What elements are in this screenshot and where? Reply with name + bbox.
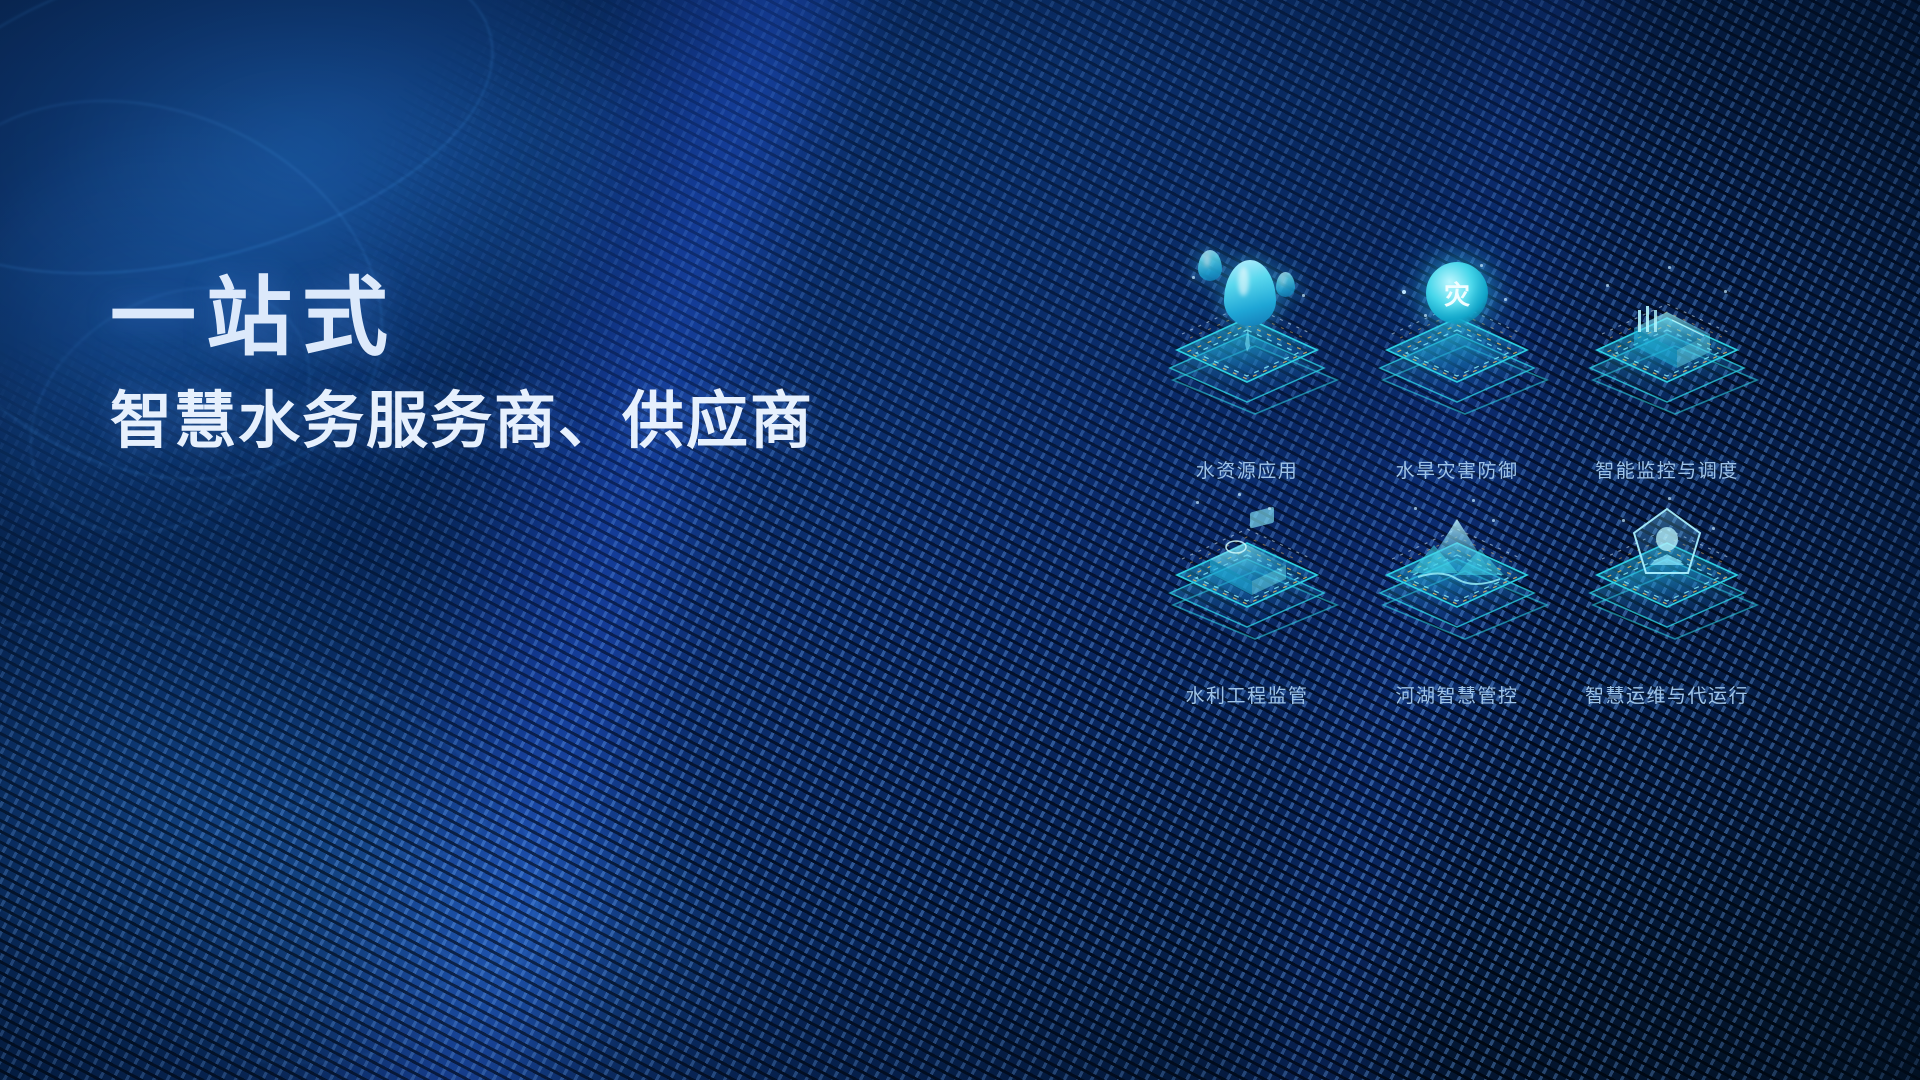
disaster-sphere-icon: 灾 — [1362, 268, 1552, 418]
water-texture-wisp — [160, 740, 780, 1080]
shield-operator-icon — [1572, 493, 1762, 643]
pipeline-works-icon — [1152, 493, 1342, 643]
water-drop-icon — [1152, 268, 1342, 418]
disaster-sphere-icon: 灾 — [1426, 262, 1488, 324]
capability-label: 河湖智慧管控 — [1395, 681, 1518, 708]
capability-item-smart-ops[interactable]: 智慧运维与代运行 — [1562, 493, 1772, 718]
capability-label: 水旱灾害防御 — [1395, 456, 1518, 483]
capability-item-project-supervision[interactable]: 水利工程监管 — [1142, 493, 1352, 718]
page-subtitle: 智慧水务服务商、供应商 — [110, 389, 1010, 456]
shield-operator-icon — [1572, 493, 1762, 643]
capability-item-flood-drought[interactable]: 灾 水旱灾害防御 — [1352, 268, 1562, 493]
background-light-ribbon — [202, 0, 959, 1080]
water-texture-wisp — [0, 560, 680, 1080]
capability-label: 智能监控与调度 — [1595, 456, 1739, 483]
capability-label: 水资源应用 — [1196, 456, 1299, 483]
capability-grid: 水资源应用 灾 — [1142, 268, 1772, 718]
slide-canvas: 一站式 智慧水务服务商、供应商 — [0, 0, 1920, 1080]
headline-block: 一站式 智慧水务服务商、供应商 — [110, 275, 1010, 456]
capability-item-monitor-dispatch[interactable]: 智能监控与调度 — [1562, 268, 1772, 493]
water-strand — [293, 660, 527, 891]
mountain-river-icon — [1362, 493, 1552, 643]
capability-item-water-resource[interactable]: 水资源应用 — [1142, 268, 1352, 493]
pipeline-works-icon — [1152, 493, 1342, 643]
dam-control-icon — [1572, 268, 1762, 418]
water-strand — [0, 550, 583, 1070]
water-strand — [101, 766, 560, 1080]
mountain-river-icon — [1362, 493, 1552, 643]
dam-control-icon — [1572, 268, 1762, 418]
page-title: 一站式 — [110, 275, 1010, 361]
disaster-glyph: 灾 — [1444, 275, 1470, 312]
capability-label: 智慧运维与代运行 — [1585, 681, 1749, 708]
capability-label: 水利工程监管 — [1185, 681, 1308, 708]
capability-item-river-lake[interactable]: 河湖智慧管控 — [1352, 493, 1562, 718]
water-strand — [430, 880, 550, 970]
